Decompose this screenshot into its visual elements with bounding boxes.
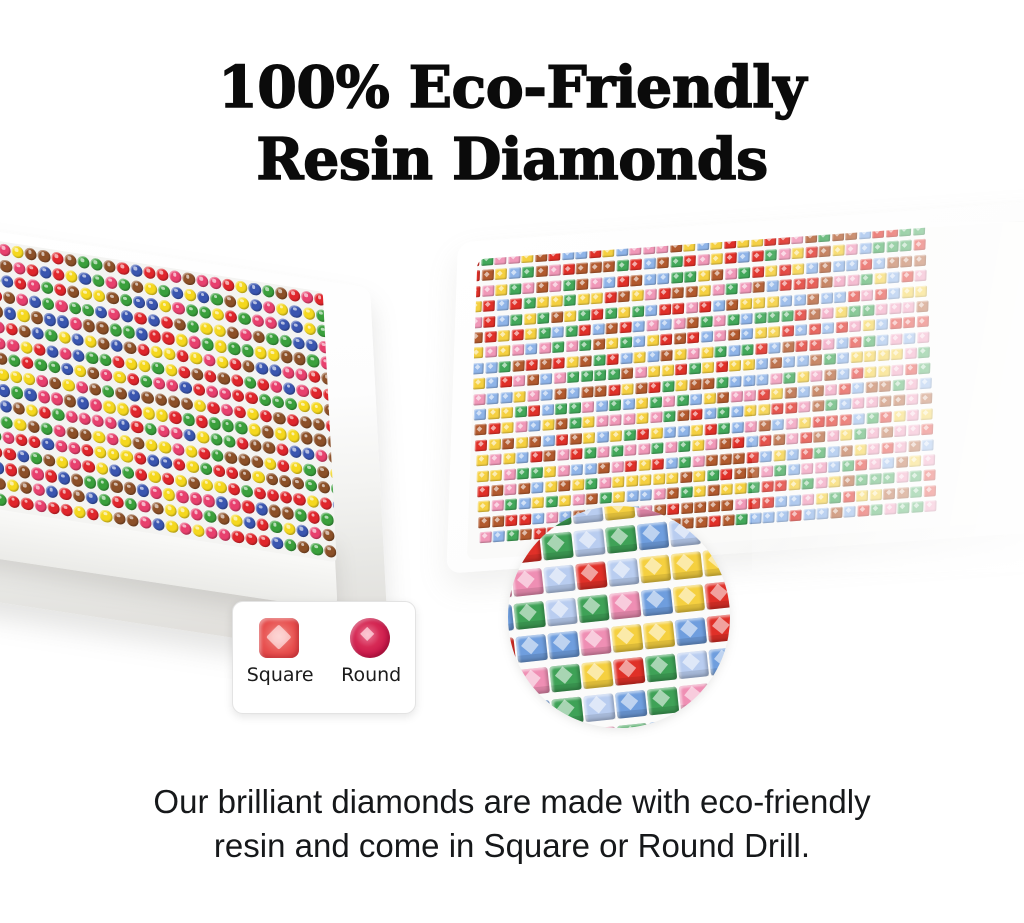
square-drill <box>852 397 864 409</box>
square-drill <box>761 481 773 493</box>
square-drill <box>481 269 493 281</box>
square-drill <box>673 318 685 330</box>
round-drill <box>239 468 252 482</box>
square-drill <box>554 388 566 400</box>
square-drill <box>567 371 579 383</box>
square-drill <box>851 367 863 379</box>
round-drill <box>269 520 282 534</box>
square-drill <box>501 407 513 419</box>
square-drill <box>625 460 637 472</box>
square-drill <box>732 437 744 449</box>
square-drill <box>766 280 778 292</box>
square-drill <box>514 390 526 402</box>
square-drill <box>693 470 705 482</box>
round-drill <box>7 338 20 352</box>
square-drill <box>659 319 671 331</box>
round-drill <box>47 501 60 515</box>
square-drill <box>792 248 804 260</box>
square-drill <box>850 336 862 348</box>
square-drill <box>705 439 717 451</box>
round-drill <box>175 333 188 347</box>
square-drill <box>829 492 841 504</box>
square-drill <box>920 408 932 420</box>
square-drill <box>603 261 615 273</box>
square-drill <box>651 442 663 454</box>
square-drill <box>661 365 673 377</box>
square-drill <box>895 441 907 453</box>
round-drill <box>0 492 7 506</box>
square-drill <box>516 452 528 464</box>
square-drill <box>670 256 682 268</box>
square-drill <box>611 461 623 473</box>
square-drill <box>690 394 702 406</box>
round-drill <box>19 481 32 495</box>
square-drill <box>821 292 833 304</box>
square-drill <box>495 284 507 296</box>
square-drill <box>530 451 542 463</box>
round-drill <box>145 438 158 452</box>
square-drill <box>713 299 725 311</box>
square-drill <box>866 412 878 424</box>
square-drill <box>806 262 818 274</box>
square-drill <box>605 307 617 319</box>
square-drill <box>920 393 932 405</box>
round-drill <box>179 521 192 535</box>
round-drill <box>198 306 211 320</box>
round-drill <box>253 486 266 500</box>
square-drill <box>632 305 644 317</box>
square-drill <box>491 485 503 497</box>
square-drill <box>795 324 807 336</box>
round-drill <box>57 471 70 485</box>
magnified-square-drill <box>647 687 680 716</box>
square-drill <box>538 327 550 339</box>
round-drill <box>108 307 121 321</box>
square-drill <box>589 262 601 274</box>
round-drill <box>0 336 6 350</box>
square-drill <box>557 449 569 461</box>
square-drill <box>570 433 582 445</box>
round-drill <box>156 268 169 282</box>
round-drill <box>34 358 47 372</box>
round-drill <box>148 470 161 484</box>
square-drill <box>915 285 927 297</box>
square-drill <box>593 339 605 351</box>
magnified-square-drill <box>515 634 548 663</box>
square-drill <box>752 281 764 293</box>
square-drill <box>877 334 889 346</box>
round-drill <box>192 383 205 397</box>
round-drill <box>240 484 253 498</box>
magnified-square-drill <box>611 624 644 653</box>
round-drill <box>150 345 163 359</box>
round-drill <box>77 255 90 269</box>
round-drill <box>131 420 144 434</box>
round-drill <box>275 286 288 300</box>
round-drill <box>132 436 145 450</box>
square-drill <box>684 255 696 267</box>
round-drill <box>11 245 24 259</box>
square-drill <box>840 429 852 441</box>
square-drill <box>631 290 643 302</box>
square-drill <box>812 400 824 412</box>
square-drill <box>731 406 743 418</box>
round-drill <box>242 500 255 514</box>
round-drill <box>157 424 170 438</box>
round-drill <box>0 383 10 397</box>
square-drill <box>782 341 794 353</box>
square-drill <box>759 435 771 447</box>
round-drill <box>122 465 135 479</box>
square-drill <box>862 320 874 332</box>
magnified-square-drill-inset <box>508 506 730 728</box>
square-drill <box>612 476 624 488</box>
round-drill <box>192 523 205 537</box>
square-drill <box>765 265 777 277</box>
square-drill <box>774 465 786 477</box>
square-drill <box>485 362 497 374</box>
square-drill <box>862 304 874 316</box>
square-drill <box>882 457 894 469</box>
square-drill <box>829 476 841 488</box>
round-drill <box>297 540 310 554</box>
round-drill <box>197 430 210 444</box>
round-drill <box>321 512 334 526</box>
square-drill <box>805 247 817 259</box>
square-drill <box>578 309 590 321</box>
round-drill <box>87 366 100 380</box>
square-drill <box>634 351 646 363</box>
square-drill <box>701 346 713 358</box>
square-drill <box>643 258 655 270</box>
magnified-square-drill <box>585 726 618 728</box>
square-drill <box>704 423 716 435</box>
round-drill <box>33 342 46 356</box>
square-drill <box>801 463 813 475</box>
square-drill <box>487 392 499 404</box>
round-drill <box>308 510 321 524</box>
square-drill <box>775 480 787 492</box>
round-drill <box>78 271 91 285</box>
square-drill <box>485 346 497 358</box>
round-drill <box>152 517 165 531</box>
square-drill <box>866 397 878 409</box>
square-drill <box>564 294 576 306</box>
magnified-square-drill <box>675 617 708 646</box>
square-drill <box>657 257 669 269</box>
round-drill <box>15 293 28 307</box>
round-drill <box>283 381 296 395</box>
square-drill <box>919 377 931 389</box>
square-drill <box>499 376 511 388</box>
square-drill <box>913 239 925 251</box>
square-drill <box>800 447 812 459</box>
square-drill <box>882 472 894 484</box>
square-drill <box>557 464 569 476</box>
round-drill <box>103 259 116 273</box>
square-drill <box>753 297 765 309</box>
round-drill <box>284 538 297 552</box>
square-drill <box>897 487 909 499</box>
round-drill <box>144 281 157 295</box>
magnified-square-drill <box>575 561 608 590</box>
round-drill <box>236 436 249 450</box>
magnified-square-drill <box>508 703 520 728</box>
round-drill <box>290 461 303 475</box>
square-drill <box>634 367 646 379</box>
square-drill <box>924 485 936 497</box>
round-drill <box>220 403 233 417</box>
square-drill <box>779 279 791 291</box>
square-drill <box>568 402 580 414</box>
square-drill <box>856 474 868 486</box>
square-drill <box>511 329 523 341</box>
square-drill <box>549 280 561 292</box>
round-drill <box>166 519 179 533</box>
square-drill <box>853 413 865 425</box>
magnified-square-drill <box>508 670 518 699</box>
round-drill <box>261 425 274 439</box>
round-drill <box>95 461 108 475</box>
square-drill <box>746 451 758 463</box>
square-drill <box>653 489 665 501</box>
round-drill <box>205 385 218 399</box>
square-drill <box>528 405 540 417</box>
magnified-square-drill <box>645 654 678 683</box>
square-drill <box>619 321 631 333</box>
magnified-square-drill <box>712 713 730 728</box>
square-drill <box>583 432 595 444</box>
round-drill <box>68 301 81 315</box>
round-drill <box>97 477 110 491</box>
magnified-square-drill <box>613 657 646 686</box>
square-drill <box>638 459 650 471</box>
magnified-drill-grid <box>508 506 730 728</box>
square-drill <box>591 293 603 305</box>
square-drill <box>728 345 740 357</box>
square-drill <box>605 322 617 334</box>
square-drill <box>783 372 795 384</box>
round-drill <box>304 322 317 336</box>
round-drill <box>181 397 194 411</box>
round-drill <box>110 339 123 353</box>
square-drill <box>580 355 592 367</box>
square-drill <box>886 241 898 253</box>
round-drill <box>191 367 204 381</box>
square-drill <box>914 255 926 267</box>
round-drill <box>153 377 166 391</box>
round-drill <box>251 314 264 328</box>
square-drill <box>891 349 903 361</box>
round-drill <box>73 505 86 519</box>
round-drill <box>202 494 215 508</box>
round-drill <box>197 290 210 304</box>
round-drill <box>158 440 171 454</box>
round-drill <box>83 319 96 333</box>
square-drill <box>572 494 584 506</box>
square-drill <box>618 306 630 318</box>
square-drill <box>556 434 568 446</box>
round-drill <box>64 253 77 267</box>
magnified-square-drill <box>643 621 676 650</box>
round-drill <box>71 332 84 346</box>
square-drill <box>528 420 540 432</box>
square-drill <box>841 460 853 472</box>
square-drill <box>626 490 638 502</box>
square-drill <box>666 472 678 484</box>
square-drill <box>833 260 845 272</box>
square-drill <box>606 338 618 350</box>
round-drill <box>251 454 264 468</box>
round-drill <box>210 292 223 306</box>
round-drill <box>110 479 123 493</box>
round-drill <box>307 354 320 368</box>
square-drill <box>787 448 799 460</box>
round-drill <box>163 347 176 361</box>
magnified-square-drill <box>573 528 606 557</box>
square-drill <box>620 352 632 364</box>
round-drill <box>273 411 286 425</box>
square-drill <box>663 395 675 407</box>
round-drill <box>43 453 56 467</box>
round-drill <box>242 359 255 373</box>
round-drill <box>223 294 236 308</box>
round-drill <box>170 426 183 440</box>
round-drill <box>143 266 156 280</box>
round-drill <box>228 341 241 355</box>
square-drill <box>744 390 756 402</box>
square-drill <box>544 465 556 477</box>
round-drill <box>204 369 217 383</box>
square-drill <box>680 487 692 499</box>
round-drill <box>253 330 266 344</box>
square-drill <box>581 386 593 398</box>
square-drill <box>551 326 563 338</box>
round-drill <box>207 401 220 415</box>
square-drill <box>878 365 890 377</box>
square-drill <box>526 374 538 386</box>
square-drill <box>762 496 774 508</box>
round-drill <box>52 267 65 281</box>
square-drill <box>891 364 903 376</box>
square-drill <box>624 444 636 456</box>
round-drill <box>11 386 24 400</box>
round-drill <box>123 481 136 495</box>
round-drill <box>62 378 75 392</box>
square-drill <box>704 408 716 420</box>
square-drill <box>474 409 486 421</box>
round-drill <box>54 283 67 297</box>
square-drill <box>757 389 769 401</box>
round-drill <box>56 455 69 469</box>
square-drill <box>496 299 508 311</box>
square-drill <box>758 419 770 431</box>
square-drill <box>868 443 880 455</box>
round-drill <box>1 275 14 289</box>
square-drill <box>545 481 557 493</box>
square-drill <box>553 357 565 369</box>
square-drill <box>916 301 928 313</box>
round-drill <box>203 353 216 367</box>
square-drill <box>819 261 831 273</box>
square-drill <box>578 324 590 336</box>
square-drill <box>730 391 742 403</box>
round-drill <box>0 352 8 366</box>
square-drill <box>867 427 879 439</box>
round-drill <box>68 441 81 455</box>
square-drill <box>539 342 551 354</box>
round-drill <box>80 287 93 301</box>
square-drill <box>662 380 674 392</box>
round-drill <box>0 415 13 429</box>
round-drill <box>119 434 132 448</box>
square-drill <box>738 251 750 263</box>
square-drill <box>551 311 563 323</box>
square-drill <box>640 489 652 501</box>
round-drill <box>90 398 103 412</box>
square-drill <box>679 471 691 483</box>
square-drill <box>597 431 609 443</box>
square-drill <box>472 378 484 390</box>
round-drill <box>58 330 71 344</box>
round-drill <box>78 412 91 426</box>
square-drill <box>488 423 500 435</box>
round-drill <box>5 322 18 336</box>
round-drill <box>39 265 52 279</box>
square-drill <box>667 488 679 500</box>
round-drill <box>283 522 296 536</box>
round-drill <box>278 474 291 488</box>
round-drill <box>5 463 18 477</box>
square-drill <box>609 399 621 411</box>
square-drill <box>530 466 542 478</box>
square-drill <box>618 291 630 303</box>
round-drill <box>24 247 37 261</box>
round-drill <box>71 473 84 487</box>
round-drill <box>18 324 31 338</box>
square-drill <box>771 388 783 400</box>
square-drill <box>903 317 915 329</box>
round-drill <box>134 311 147 325</box>
magnified-square-drill <box>710 680 730 709</box>
square-drill <box>497 315 509 327</box>
square-drill <box>767 311 779 323</box>
square-drill <box>808 308 820 320</box>
square-drill <box>569 417 581 429</box>
round-drill <box>176 349 189 363</box>
square-drill <box>611 445 623 457</box>
square-drill <box>768 326 780 338</box>
square-drill <box>883 488 895 500</box>
magnified-square-drill <box>583 693 616 722</box>
round-drill <box>27 419 40 433</box>
square-drill <box>582 416 594 428</box>
round-drill <box>67 285 80 299</box>
round-drill <box>267 348 280 362</box>
round-drill <box>0 399 12 413</box>
square-drill <box>510 298 522 310</box>
square-drill <box>897 502 909 514</box>
square-drill <box>620 337 632 349</box>
magnified-square-drill <box>513 601 546 630</box>
round-drill <box>277 318 290 332</box>
square-drill <box>881 442 893 454</box>
round-drill <box>286 413 299 427</box>
square-drill <box>543 450 555 462</box>
square-drill <box>595 385 607 397</box>
square-drill <box>648 366 660 378</box>
square-drill <box>800 432 812 444</box>
